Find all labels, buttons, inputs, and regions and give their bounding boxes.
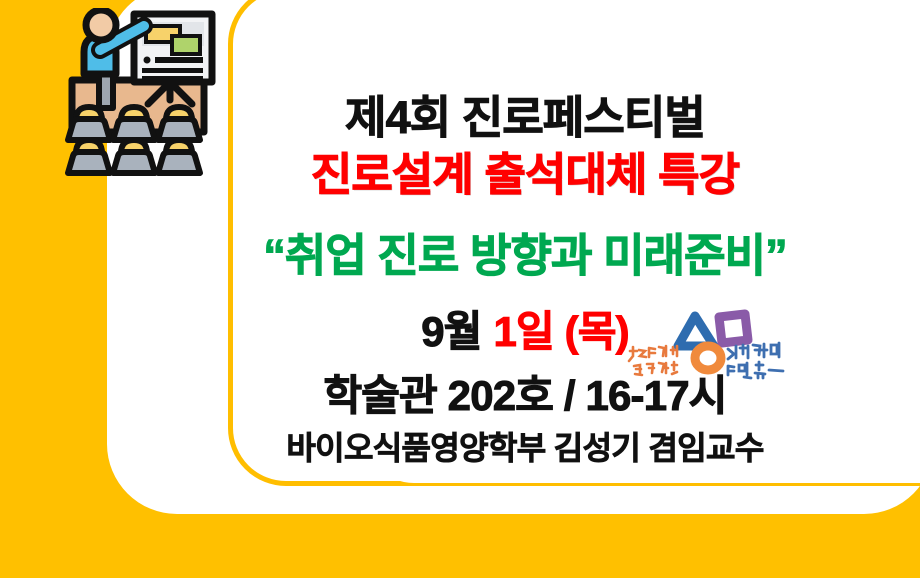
poster-content: 제4회 진로페스티벌 진로설계 출석대체 특강 “취업 진로 방향과 미래준비”… [140,0,910,578]
lecture-presentation-icon [62,8,232,180]
event-speaker: 바이오식품영양학부 김성기 겸임교수 [286,432,763,464]
event-date: 9월 1일 (목) [421,311,629,353]
page-subtitle: 진로설계 출석대체 특강 [311,152,739,197]
semyung-university-logo [622,306,794,386]
event-date-day: 1일 (목) [494,311,629,353]
page-title: 제4회 진로페스티벌 [345,95,705,140]
lecture-theme-quote: “취업 진로 방향과 미래준비” [263,233,787,278]
event-date-month: 9월 [421,311,481,353]
poster-root: 제4회 진로페스티벌 진로설계 출석대체 특강 “취업 진로 방향과 미래준비”… [0,0,920,578]
